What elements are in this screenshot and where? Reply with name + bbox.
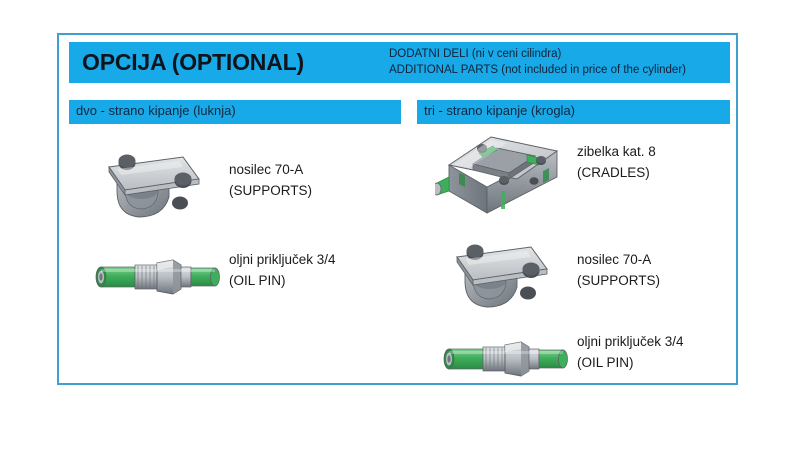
note-line-slovene: DODATNI DELI (ni v ceni cilindra) bbox=[389, 46, 724, 62]
part-label: zibelka kat. 8(CRADLES) bbox=[577, 141, 752, 183]
part-name-slovene: nosilec 70-A bbox=[577, 249, 752, 270]
part-illustration bbox=[87, 145, 227, 223]
part-name-slovene: nosilec 70-A bbox=[229, 159, 404, 180]
part-name-english: (OIL PIN) bbox=[577, 352, 752, 373]
part-name-english: (SUPPORTS) bbox=[577, 270, 752, 291]
part-name-english: (CRADLES) bbox=[577, 162, 752, 183]
part-item: oljni priključek 3/4(OIL PIN) bbox=[417, 317, 730, 395]
part-name-slovene: oljni priključek 3/4 bbox=[577, 331, 752, 352]
part-illustration bbox=[87, 239, 227, 317]
bracket-support-illustration bbox=[435, 235, 575, 313]
column-header-band-left: dvo - strano kipanje (luknja) bbox=[69, 100, 401, 124]
part-item: zibelka kat. 8(CRADLES) bbox=[417, 127, 730, 205]
part-name-slovene: oljni priključek 3/4 bbox=[229, 249, 404, 270]
panel-title-note: DODATNI DELI (ni v ceni cilindra) ADDITI… bbox=[389, 46, 724, 78]
part-item: nosilec 70-A(SUPPORTS) bbox=[417, 235, 730, 313]
part-illustration bbox=[435, 235, 575, 313]
part-label: oljni priključek 3/4(OIL PIN) bbox=[577, 331, 752, 373]
oil-pin-fitting-illustration bbox=[435, 321, 575, 399]
part-name-english: (OIL PIN) bbox=[229, 270, 404, 291]
part-name-slovene: zibelka kat. 8 bbox=[577, 141, 752, 162]
panel-title-band: OPCIJA (OPTIONAL) DODATNI DELI (ni v cen… bbox=[69, 42, 730, 83]
part-illustration bbox=[435, 121, 575, 199]
note-line-english: ADDITIONAL PARTS (not included in price … bbox=[389, 62, 724, 78]
column-header-label-right: tri - strano kipanje (krogla) bbox=[424, 103, 575, 118]
oil-pin-fitting-illustration bbox=[87, 239, 227, 317]
part-item: oljni priključek 3/4(OIL PIN) bbox=[69, 235, 401, 313]
cradle-clamp-illustration bbox=[435, 121, 575, 217]
part-illustration bbox=[435, 321, 575, 399]
parts-column-left: nosilec 70-A(SUPPORTS) bbox=[69, 127, 401, 383]
optional-parts-panel: OPCIJA (OPTIONAL) DODATNI DELI (ni v cen… bbox=[57, 33, 738, 385]
part-label: nosilec 70-A(SUPPORTS) bbox=[229, 159, 404, 201]
part-name-english: (SUPPORTS) bbox=[229, 180, 404, 201]
part-item: nosilec 70-A(SUPPORTS) bbox=[69, 145, 401, 223]
parts-columns: nosilec 70-A(SUPPORTS) bbox=[59, 127, 736, 383]
column-header-label-left: dvo - strano kipanje (luknja) bbox=[76, 103, 236, 118]
page-title: OPCIJA (OPTIONAL) bbox=[82, 49, 304, 76]
part-label: oljni priključek 3/4(OIL PIN) bbox=[229, 249, 404, 291]
bracket-support-illustration bbox=[87, 145, 227, 223]
parts-column-right: zibelka kat. 8(CRADLES) nosilec bbox=[417, 127, 730, 383]
part-label: nosilec 70-A(SUPPORTS) bbox=[577, 249, 752, 291]
